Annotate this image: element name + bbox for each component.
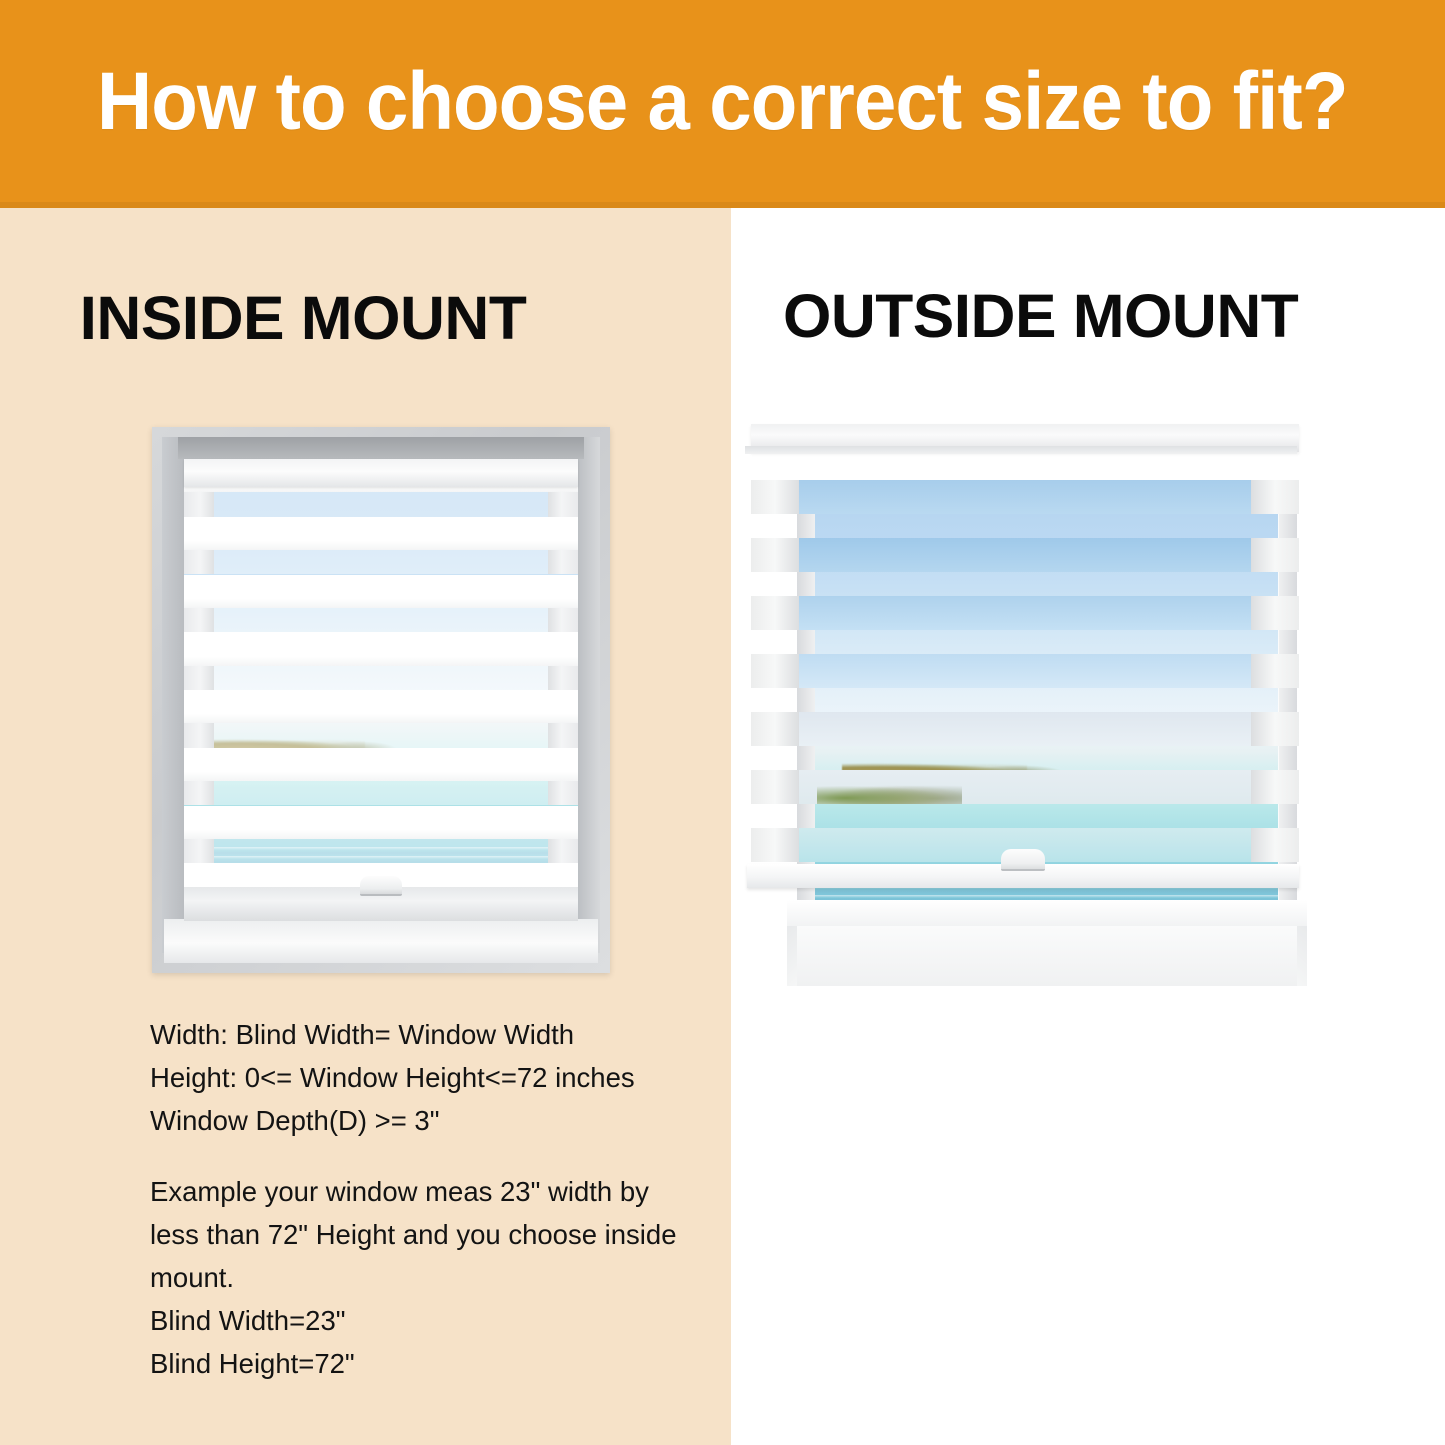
zebra-blind-fabric (741, 420, 1301, 930)
zebra-opaque-band (184, 575, 578, 608)
zebra-side-tab-right (548, 666, 578, 690)
zebra-side-tab-left (751, 596, 799, 630)
zebra-side-tab-left (751, 538, 799, 572)
zebra-slat (751, 654, 1299, 688)
header-banner: How to choose a correct size to fit? (0, 0, 1445, 208)
panels-container: INSIDE MOUNT (0, 208, 1445, 1445)
paragraph-gap (150, 1142, 695, 1170)
zebra-side-tab-right (548, 781, 578, 805)
zebra-sheer-gap (799, 654, 1251, 688)
zebra-side-tab-left (184, 492, 214, 516)
inside-example-line-5: Blind Height=72" (150, 1342, 695, 1385)
zebra-side-tab-right (1251, 770, 1299, 804)
inside-rule-depth: Window Depth(D) >= 3" (150, 1099, 695, 1142)
zebra-sheer-gap (799, 770, 1251, 804)
inside-example-line-2: less than 72" Height and you choose insi… (150, 1213, 695, 1256)
zebra-side-tab-right (548, 492, 578, 516)
zebra-side-tab-right (1251, 712, 1299, 746)
zebra-opaque-band (184, 690, 578, 723)
zebra-side-tab-left (184, 550, 214, 574)
zebra-sheer-gap (184, 608, 578, 632)
zebra-side-tab-left (751, 654, 799, 688)
zebra-slat (751, 770, 1299, 804)
zebra-side-tab-right (1251, 596, 1299, 630)
zebra-sheer-gap (184, 550, 578, 574)
window-glass-opening (184, 459, 578, 921)
blind-headrail-edge (745, 446, 1297, 454)
blind-bottom-rail (184, 887, 578, 921)
zebra-sheer-gap (184, 781, 578, 805)
inside-mount-window-diagram (152, 427, 610, 973)
zebra-side-tab-right (548, 550, 578, 574)
zebra-opaque-band (184, 748, 578, 781)
outside-mount-panel: OUTSIDE MOUNT (731, 208, 1445, 1445)
zebra-sheer-gap (184, 723, 578, 747)
window-sill-front (797, 926, 1297, 986)
zebra-sheer-gap (184, 492, 578, 516)
zebra-side-tab-right (1251, 654, 1299, 688)
inside-example-line-1: Example your window meas 23" width by (150, 1170, 695, 1213)
inside-example-line-4: Blind Width=23" (150, 1299, 695, 1342)
zebra-sheer-gap (184, 666, 578, 690)
zebra-side-tab-right (1251, 828, 1299, 862)
zebra-side-tab-left (751, 712, 799, 746)
zebra-side-tab-right (548, 608, 578, 632)
inside-mount-panel: INSIDE MOUNT (0, 208, 731, 1445)
zebra-side-tab-left (751, 828, 799, 862)
outside-mount-heading: OUTSIDE MOUNT (783, 286, 1298, 347)
inside-mount-heading: INSIDE MOUNT (80, 288, 527, 349)
zebra-sheer-gap (799, 480, 1251, 514)
zebra-side-tab-left (184, 666, 214, 690)
blind-headrail (184, 459, 578, 487)
zebra-side-tab-left (184, 839, 214, 863)
zebra-side-tab-left (184, 781, 214, 805)
blind-handle[interactable] (1001, 849, 1045, 871)
zebra-sheer-gap (799, 538, 1251, 572)
zebra-side-tab-right (1251, 538, 1299, 572)
infographic-page: How to choose a correct size to fit? INS… (0, 0, 1445, 1445)
window-sill (164, 919, 598, 963)
zebra-side-tab-right (548, 723, 578, 747)
blind-handle[interactable] (360, 876, 402, 896)
zebra-slat (751, 596, 1299, 630)
zebra-slat (751, 538, 1299, 572)
zebra-opaque-band (184, 517, 578, 550)
zebra-sheer-gap (184, 839, 578, 863)
outside-mount-window-diagram (741, 420, 1431, 965)
inside-rule-width: Width: Blind Width= Window Width (150, 1013, 695, 1056)
window-reveal-left (162, 437, 184, 953)
zebra-side-tab-right (548, 839, 578, 863)
zebra-sheer-gap (799, 712, 1251, 746)
window-reveal-top (178, 437, 584, 459)
inside-example-line-3: mount. (150, 1256, 695, 1299)
page-title: How to choose a correct size to fit? (97, 61, 1347, 143)
zebra-slat (751, 712, 1299, 746)
blind-bottom-rail (747, 864, 1299, 888)
zebra-sheer-gap (799, 596, 1251, 630)
zebra-opaque-band (184, 806, 578, 839)
inside-mount-text: Width: Blind Width= Window Width Height:… (150, 1013, 695, 1385)
zebra-side-tab-right (1251, 480, 1299, 514)
zebra-side-tab-left (184, 608, 214, 632)
zebra-opaque-band (184, 632, 578, 665)
zebra-slat (751, 480, 1299, 514)
zebra-side-tab-left (184, 723, 214, 747)
island-shape (817, 784, 962, 804)
zebra-side-tab-left (751, 770, 799, 804)
zebra-side-tab-left (751, 480, 799, 514)
window-reveal-right (578, 437, 600, 953)
inside-rule-height: Height: 0<= Window Height<=72 inches (150, 1056, 695, 1099)
